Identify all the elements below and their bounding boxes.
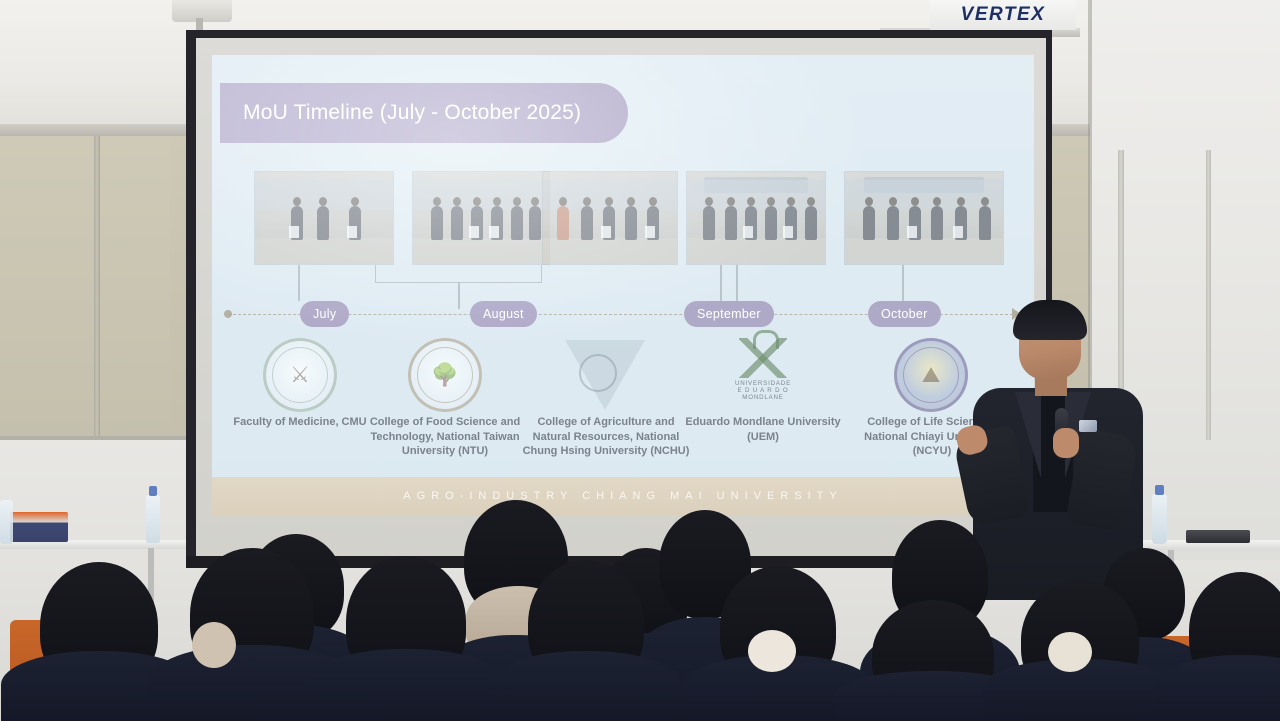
mou-signing-photo-4 (686, 171, 826, 265)
audience-member (512, 560, 660, 721)
window-blind-far-right (1206, 150, 1211, 440)
lecture-room-scene: VERTEX MoU Timeline (July - October 2025… (0, 0, 1280, 721)
timeline-month-august: August (470, 301, 537, 327)
mou-photo-strip (246, 171, 1006, 269)
uem-logo-text: UNIVERSIDADEE D U A R D OMONDLANE (735, 381, 791, 401)
vertex-brand-sign: VERTEX (930, 0, 1076, 30)
water-bottle-left (146, 495, 160, 543)
institution-label-cmu: Faculty of Medicine, CMU (220, 415, 380, 430)
mou-signing-photo-5 (844, 171, 1004, 265)
audience-member (1176, 572, 1280, 721)
institution-label-ntu: College of Food Science and Technology, … (364, 415, 526, 459)
tissue-box (10, 512, 68, 542)
ntu-seal-icon: 🌳 (390, 333, 500, 417)
uem-logo-icon: UNIVERSIDADEE D U A R D OMONDLANE (708, 333, 818, 417)
mou-signing-photo-1 (254, 171, 394, 265)
institution-label-uem: Eduardo Mondlane University (UEM) (674, 415, 852, 444)
timeline-month-october: October (868, 301, 941, 327)
audience-member (330, 556, 482, 721)
presenter-lapel-pin (1079, 420, 1097, 432)
photo-group-bracket (375, 265, 542, 283)
audience-member (1006, 580, 1154, 721)
mou-signing-photo-2 (412, 171, 550, 265)
cmu-faculty-of-medicine-seal-icon: ⚔ (245, 333, 355, 417)
timeline-month-july: July (300, 301, 349, 327)
timeline-month-september: September (684, 301, 774, 327)
water-bottle-far-left (0, 500, 13, 544)
slide-title: MoU Timeline (July - October 2025) (243, 101, 581, 125)
mou-signing-photo-3 (542, 171, 678, 265)
window-blind-left (94, 136, 100, 436)
laptop (1186, 530, 1250, 543)
presentation-slide: MoU Timeline (July - October 2025) (212, 55, 1034, 515)
presenter-hair (1013, 300, 1087, 340)
slide-footer-band: AGRO-INDUSTRY CHIANG MAI UNIVERSITY (212, 477, 1034, 515)
vertex-brand-label: VERTEX (961, 4, 1046, 26)
presenter-hand-on-mic (1053, 428, 1079, 458)
audience-member (704, 566, 852, 721)
institution-label-nchu: College of Agriculture and Natural Resou… (522, 415, 690, 459)
slide-title-pill: MoU Timeline (July - October 2025) (220, 83, 628, 143)
nchu-triangle-logo-icon (550, 333, 660, 417)
wall-panel-left (0, 136, 170, 441)
